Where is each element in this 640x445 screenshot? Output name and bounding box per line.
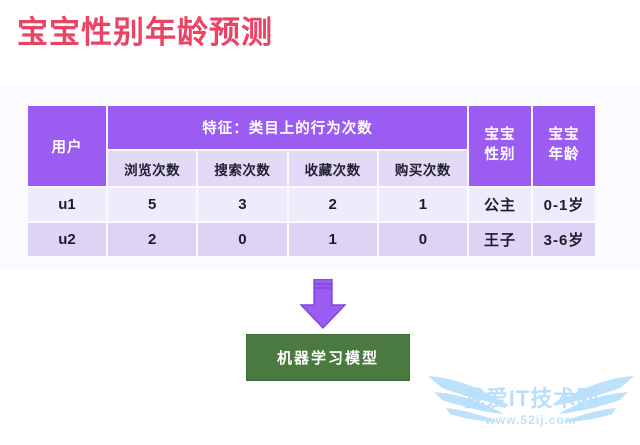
arrow-down-icon bbox=[297, 279, 349, 329]
watermark-site-name: 我爱IT技术网 bbox=[463, 388, 600, 410]
page-title: 宝宝性别年龄预测 bbox=[17, 12, 273, 54]
cell-user: u2 bbox=[28, 223, 106, 256]
cell-search: 3 bbox=[198, 188, 286, 221]
cell-browse: 2 bbox=[108, 223, 196, 256]
watermark: 我爱IT技术网 www.52ij.com bbox=[424, 362, 638, 440]
watermark-site-url: www.52ij.com bbox=[486, 413, 577, 427]
cell-search: 0 bbox=[198, 223, 286, 256]
watermark-text: 我爱IT技术网 www.52ij.com bbox=[424, 362, 638, 440]
machine-learning-model-box: 机器学习模型 bbox=[246, 334, 410, 381]
table-row: u1 5 3 2 1 公主 0-1岁 bbox=[28, 188, 595, 221]
cell-browse: 5 bbox=[108, 188, 196, 221]
cell-baby-age: 3-6岁 bbox=[533, 223, 595, 256]
cell-favorite: 1 bbox=[289, 223, 377, 256]
column-header-favorite-count: 收藏次数 bbox=[289, 151, 377, 186]
column-header-baby-gender: 宝宝 性别 bbox=[469, 106, 531, 186]
column-header-baby-gender-line1: 宝宝 bbox=[469, 126, 531, 146]
feature-table-wrapper: 用户 特征：类目上的行为次数 宝宝 性别 宝宝 年龄 浏览次数 搜索次数 收藏次… bbox=[26, 104, 597, 258]
column-group-header-features: 特征：类目上的行为次数 bbox=[108, 106, 467, 149]
table-row: u2 2 0 1 0 王子 3-6岁 bbox=[28, 223, 595, 256]
wings-icon bbox=[424, 362, 638, 440]
column-header-search-count: 搜索次数 bbox=[198, 151, 286, 186]
column-header-purchase-count: 购买次数 bbox=[379, 151, 467, 186]
cell-baby-gender: 王子 bbox=[469, 223, 531, 256]
cell-purchase: 1 bbox=[379, 188, 467, 221]
column-header-baby-gender-line2: 性别 bbox=[469, 146, 531, 166]
cell-purchase: 0 bbox=[379, 223, 467, 256]
column-header-baby-age-line2: 年龄 bbox=[533, 146, 595, 166]
slide-canvas: 宝宝性别年龄预测 用户 特征：类目上的行为次数 宝宝 性别 宝宝 年龄 bbox=[0, 0, 640, 441]
feature-table: 用户 特征：类目上的行为次数 宝宝 性别 宝宝 年龄 浏览次数 搜索次数 收藏次… bbox=[26, 104, 597, 258]
cell-baby-age: 0-1岁 bbox=[533, 188, 595, 221]
cell-user: u1 bbox=[28, 188, 106, 221]
column-header-browse-count: 浏览次数 bbox=[108, 151, 196, 186]
column-header-user: 用户 bbox=[28, 106, 106, 186]
machine-learning-model-label: 机器学习模型 bbox=[277, 347, 379, 368]
table-header-row-main: 用户 特征：类目上的行为次数 宝宝 性别 宝宝 年龄 bbox=[28, 106, 595, 149]
cell-favorite: 2 bbox=[289, 188, 377, 221]
column-header-baby-age-line1: 宝宝 bbox=[533, 126, 595, 146]
cell-baby-gender: 公主 bbox=[469, 188, 531, 221]
column-header-baby-age: 宝宝 年龄 bbox=[533, 106, 595, 186]
